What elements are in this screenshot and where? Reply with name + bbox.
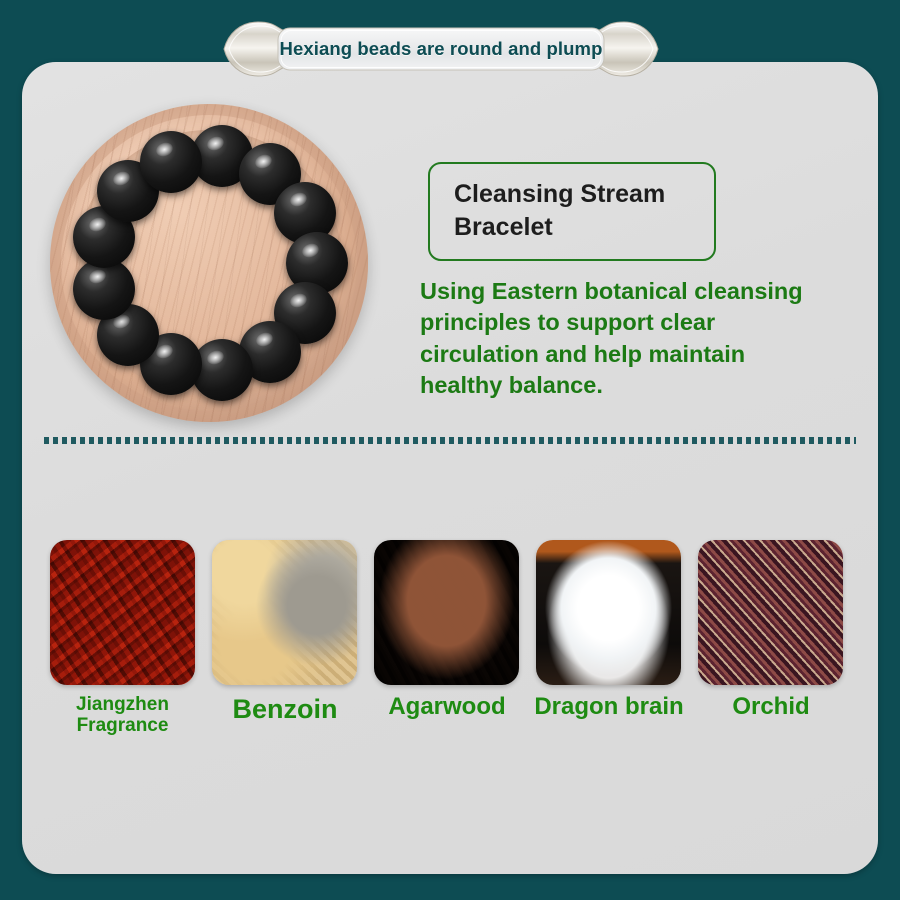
bead <box>140 131 202 193</box>
ingredient-label: Orchid <box>686 694 856 721</box>
ingredient-photo <box>536 540 681 685</box>
hero-section: Cleansing Stream Bracelet Using Eastern … <box>22 62 878 437</box>
ingredient-item[interactable]: Orchid <box>698 540 856 721</box>
ingredient-thumbnail[interactable] <box>50 540 195 685</box>
header-ribbon: Hexiang beads are round and plump <box>218 18 664 80</box>
ingredient-item[interactable]: Benzoin <box>212 540 370 724</box>
bead-bracelet <box>50 104 368 422</box>
ingredient-photo <box>212 540 357 685</box>
ingredient-item[interactable]: Agarwood <box>374 540 532 721</box>
ingredient-label: Jiangzhen Fragrance <box>50 694 195 737</box>
banner-title: Hexiang beads are round and plump <box>218 18 664 80</box>
ingredient-label: Benzoin <box>200 694 370 724</box>
poster-root: Hexiang beads are round and plump Cleans… <box>0 0 900 900</box>
ingredient-label: Dragon brain <box>524 694 694 721</box>
ingredient-item[interactable]: Jiangzhen Fragrance <box>50 540 195 737</box>
ingredient-label: Agarwood <box>362 694 532 721</box>
product-description: Using Eastern botanical cleansing princi… <box>420 276 806 401</box>
ingredient-photo <box>50 540 195 685</box>
ingredient-thumbnail[interactable] <box>536 540 681 685</box>
product-title-box: Cleansing Stream Bracelet <box>428 162 716 261</box>
product-title-line2: Bracelet <box>454 211 698 244</box>
ingredient-photo <box>374 540 519 685</box>
ingredient-item[interactable]: Dragon brain <box>536 540 694 721</box>
ingredient-thumbnail[interactable] <box>212 540 357 685</box>
ingredient-thumbnail[interactable] <box>374 540 519 685</box>
ingredient-thumbnail[interactable] <box>698 540 843 685</box>
product-title-line1: Cleansing Stream <box>454 178 698 211</box>
product-image <box>50 104 368 422</box>
ingredient-photo <box>698 540 843 685</box>
dotted-divider <box>44 437 856 444</box>
ingredient-list: Jiangzhen FragranceBenzoinAgarwoodDragon… <box>22 540 878 770</box>
